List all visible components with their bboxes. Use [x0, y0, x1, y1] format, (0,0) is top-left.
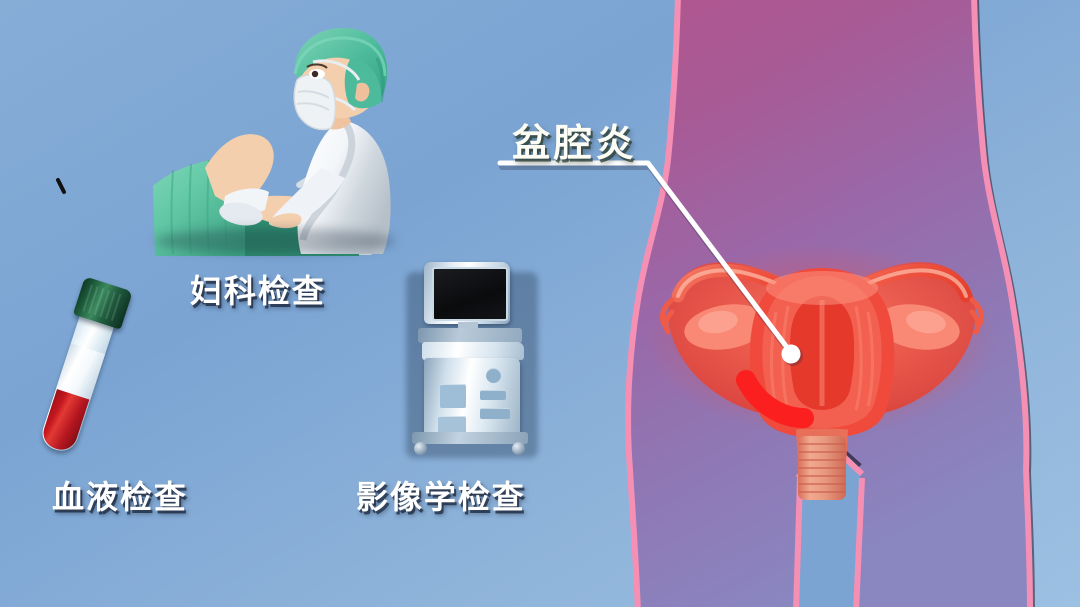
caster-wheel-left [414, 442, 427, 455]
machine-base [412, 432, 528, 444]
machine-cabinet [424, 358, 520, 436]
blood-sample-tube [25, 274, 138, 461]
control-panel-button-2 [480, 408, 510, 419]
monitor-screen [432, 267, 508, 321]
control-panel-display [440, 384, 466, 408]
caption-gynecological-exam: 妇科检查 [190, 266, 326, 312]
control-panel-dial [486, 368, 501, 383]
caster-wheel-right [512, 442, 525, 455]
female-body-illustration [560, 0, 1080, 607]
control-panel-button-1 [480, 390, 506, 400]
gynecological-exam-figure [145, 18, 405, 268]
tube-label-band [56, 343, 105, 400]
doctor-figure [269, 28, 391, 254]
callout-title: 盆腔炎 [512, 112, 637, 167]
ink-stroke-artifact [58, 180, 64, 192]
keyboard-deck-upper [418, 328, 522, 343]
ultrasound-machine [398, 262, 538, 458]
caption-imaging-exam: 影像学检查 [356, 472, 526, 518]
illustration-canvas: 盆腔炎 妇科检查 血液检查 影像学检查 [0, 0, 1080, 607]
face-mask [294, 75, 335, 129]
caption-blood-test: 血液检查 [52, 472, 188, 518]
